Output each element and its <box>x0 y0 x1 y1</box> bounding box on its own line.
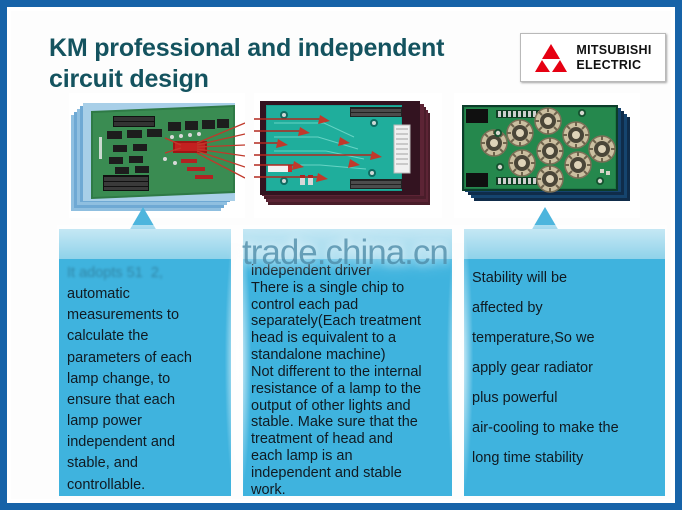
textbox-2-line-13: independent and stable <box>251 465 444 482</box>
textbox-1-line-7: lamp power <box>67 411 223 432</box>
slide-frame: KM professional and independent circuit … <box>0 0 682 510</box>
callout-band-right <box>464 229 665 259</box>
pcb-lamp-socket-board-stack <box>454 93 640 218</box>
textbox-2-line-7: Not different to the internal <box>251 364 444 381</box>
textbox-stability-cooling: Stability will be affected by temperatur… <box>464 259 665 496</box>
mitsubishi-three-diamond-icon <box>534 43 568 73</box>
textbox-automatic-measurement: It adopts 51 2, automatic measurements t… <box>59 259 231 496</box>
pcb-driver-board-stack <box>69 93 245 218</box>
textbox-independent-driver: independent driver There is a single chi… <box>243 259 452 496</box>
textbox-3-line-1: Stability will be <box>472 263 657 293</box>
textbox-3-line-5: plus powerful <box>472 383 657 413</box>
textbox-2-line-4: separately(Each treatment <box>251 313 444 330</box>
slide-inner: KM professional and independent circuit … <box>11 11 671 499</box>
textbox-1-line-10: controllable. <box>67 475 223 496</box>
photo-row <box>11 93 682 218</box>
callout-pointer-right <box>531 207 559 231</box>
textbox-1-line-6: ensure that each <box>67 390 223 411</box>
textbox-2-line-5: head is equivalent to a <box>251 330 444 347</box>
textbox-1-line-9: stable, and <box>67 453 223 474</box>
textbox-3-line-7: long time stability <box>472 443 657 473</box>
mitsubishi-electric-logo: MITSUBISHI ELECTRIC <box>520 33 666 82</box>
textbox-3-line-4: apply gear radiator <box>472 353 657 383</box>
logo-line-1: MITSUBISHI <box>576 43 651 57</box>
textbox-2-line-1: independent driver <box>251 263 444 280</box>
mitsubishi-logo-text: MITSUBISHI ELECTRIC <box>576 43 651 72</box>
page-title: KM professional and independent circuit … <box>49 33 519 96</box>
textbox-2-line-12: each lamp is an <box>251 448 444 465</box>
textbox-2-line-2: There is a single chip to <box>251 280 444 297</box>
logo-line-2: ELECTRIC <box>576 58 641 72</box>
textbox-1-line-4: parameters of each <box>67 348 223 369</box>
textbox-1-line-3: calculate the <box>67 326 223 347</box>
textbox-2-line-11: treatment of head and <box>251 431 444 448</box>
textbox-1-line-2: measurements to <box>67 305 223 326</box>
textbox-2-line-9: output of other lights and <box>251 398 444 415</box>
pcb-control-board-stack <box>254 93 442 218</box>
callout-pointer-left <box>129 207 157 231</box>
callout-band-left <box>59 229 231 259</box>
textbox-2-line-10: stable. Make sure that the <box>251 414 444 431</box>
textbox-1-line-5: lamp change, to <box>67 369 223 390</box>
callout-band-center <box>243 229 452 259</box>
textbox-2-line-3: control each pad <box>251 297 444 314</box>
textbox-2-line-14: work. <box>251 482 444 496</box>
textbox-1-line-8: independent and <box>67 432 223 453</box>
textbox-2-line-6: standalone machine) <box>251 347 444 364</box>
textbox-3-line-2: affected by <box>472 293 657 323</box>
textbox-1-line-0: It adopts 51 2, <box>67 263 223 284</box>
textbox-2-line-8: resistance of a lamp to the <box>251 381 444 398</box>
textbox-1-line-1: automatic <box>67 284 223 305</box>
textbox-3-line-6: air-cooling to make the <box>472 413 657 443</box>
textbox-3-line-3: temperature,So we <box>472 323 657 353</box>
